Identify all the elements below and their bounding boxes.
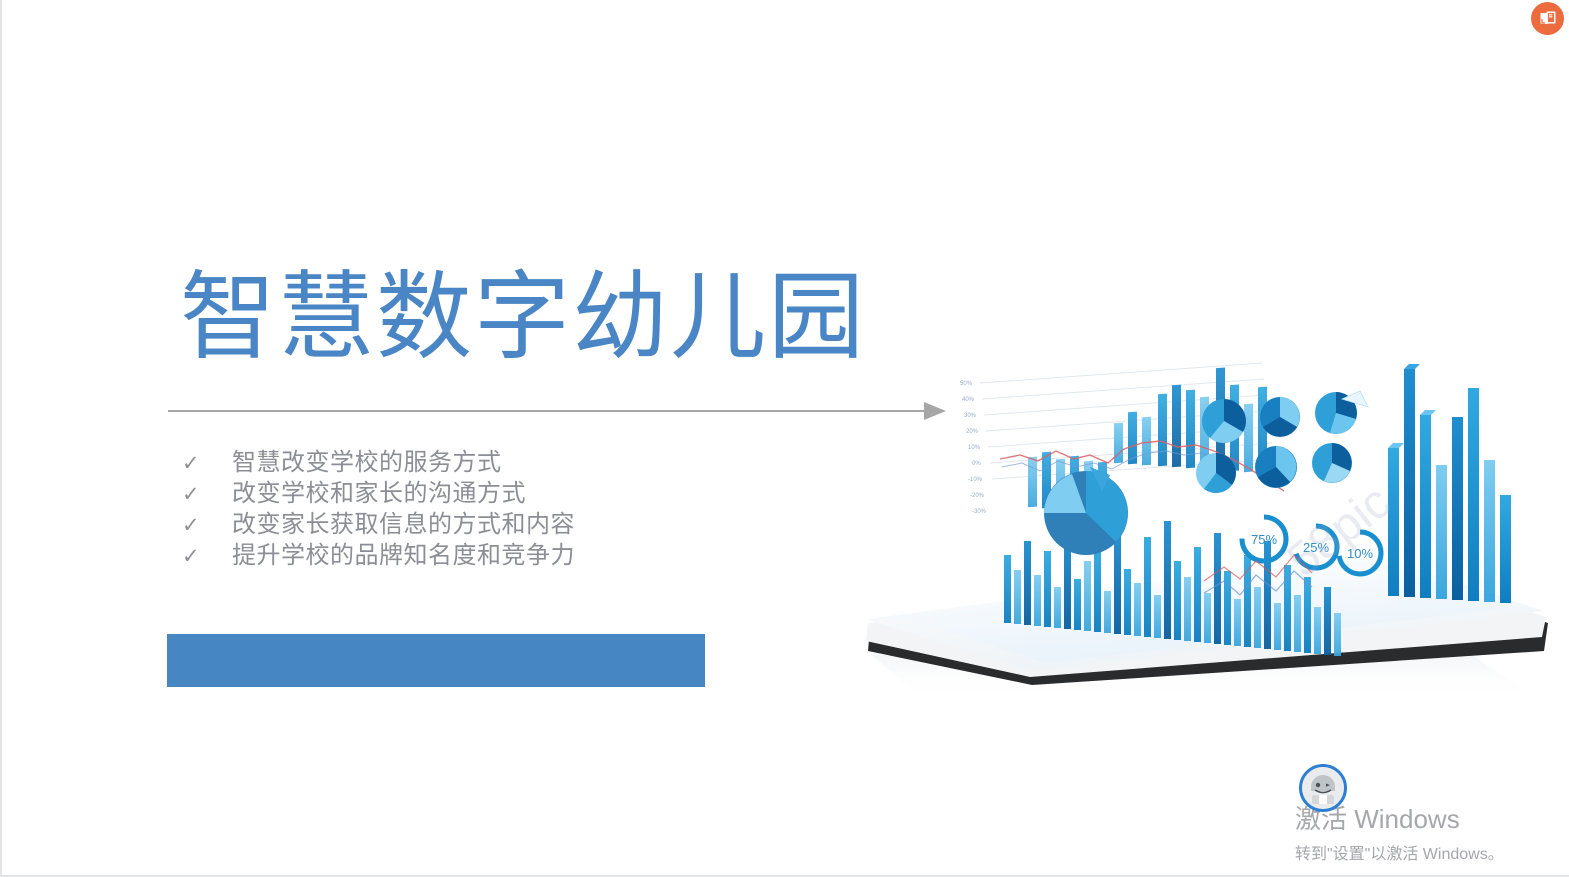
presentation-slide: 智慧数字幼儿园 ✓ 智慧改变学校的服务方式 ✓ 改变学校和家长的沟通方式 ✓ 改…	[0, 0, 1569, 877]
windows-activation-watermark: 激活 Windows 转到"设置"以激活 Windows。	[1295, 805, 1504, 864]
list-item: ✓ 改变学校和家长的沟通方式	[182, 473, 742, 504]
tablet-analytics-illustration: 50% 40% 30% 20% 10% 0% -10% -20% -30%	[832, 355, 1569, 755]
list-item: ✓ 改变家长获取信息的方式和内容	[182, 504, 742, 535]
checkmark-icon: ✓	[182, 482, 232, 506]
list-item-label: 改变家长获取信息的方式和内容	[232, 504, 575, 539]
svg-text:-20%: -20%	[970, 493, 985, 499]
robot-avatar-icon	[1299, 764, 1347, 812]
list-item: ✓ 智慧改变学校的服务方式	[182, 442, 742, 473]
checkmark-icon: ✓	[182, 544, 232, 568]
svg-text:10%: 10%	[968, 445, 981, 451]
svg-text:50%: 50%	[960, 381, 973, 387]
list-item-label: 智慧改变学校的服务方式	[232, 442, 502, 477]
powerpoint-icon	[1539, 10, 1557, 28]
svg-text:30%: 30%	[964, 413, 977, 419]
svg-text:10%: 10%	[1347, 546, 1373, 561]
svg-text:0%: 0%	[972, 461, 981, 467]
powerpoint-app-badge[interactable]	[1531, 2, 1564, 35]
svg-text:20%: 20%	[966, 429, 979, 435]
svg-text:-30%: -30%	[972, 509, 987, 515]
list-item-label: 提升学校的品牌知名度和竞争力	[232, 535, 575, 570]
accent-bar	[167, 634, 705, 687]
activation-subtitle: 转到"设置"以激活 Windows。	[1295, 840, 1504, 864]
list-item: ✓ 提升学校的品牌知名度和竞争力	[182, 535, 742, 566]
arrow-line	[168, 410, 926, 412]
svg-text:75%: 75%	[1251, 532, 1277, 547]
checkmark-icon: ✓	[182, 451, 232, 475]
svg-text:-10%: -10%	[968, 477, 983, 483]
svg-text:40%: 40%	[962, 397, 975, 403]
slide-title: 智慧数字幼儿园	[180, 268, 866, 369]
checkmark-icon: ✓	[182, 513, 232, 537]
illustration-svg: 50% 40% 30% 20% 10% 0% -10% -20% -30%	[832, 355, 1569, 755]
avatar-glyph	[1302, 767, 1344, 809]
svg-text:25%: 25%	[1303, 540, 1329, 555]
list-item-label: 改变学校和家长的沟通方式	[232, 473, 526, 508]
bullet-list: ✓ 智慧改变学校的服务方式 ✓ 改变学校和家长的沟通方式 ✓ 改变家长获取信息的…	[182, 442, 742, 566]
